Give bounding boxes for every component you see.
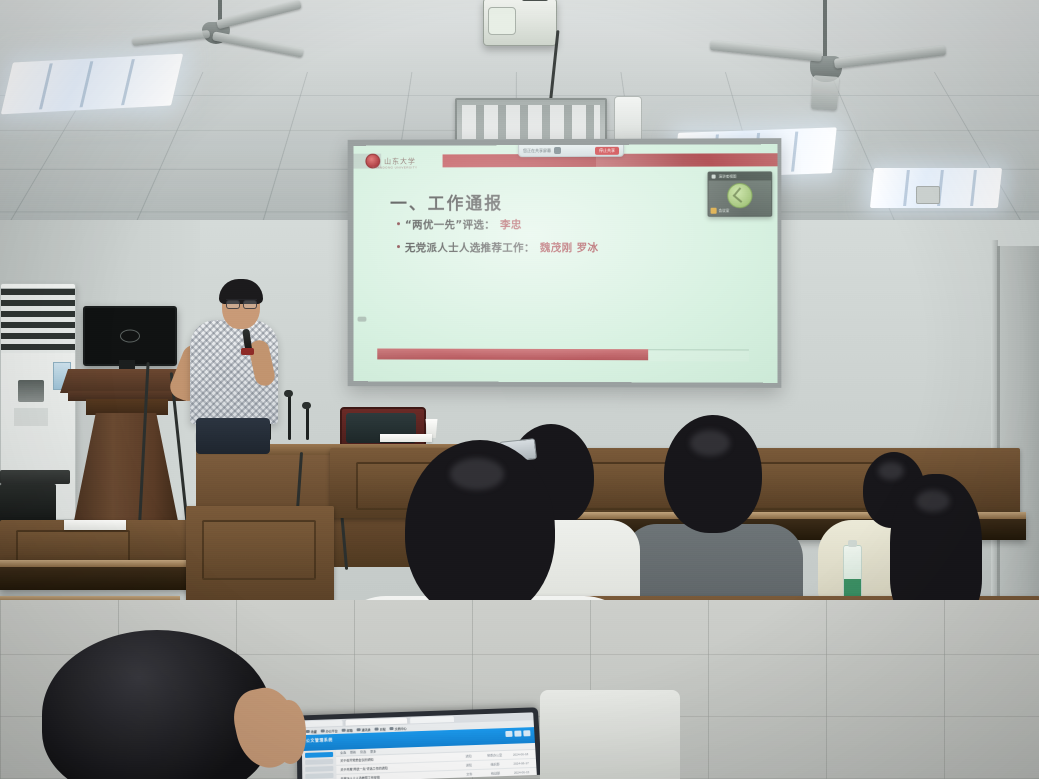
participant-name: 会议室 xyxy=(719,208,730,213)
bookmark-label: 办公平台 xyxy=(326,728,338,732)
screen-edge-marker xyxy=(358,317,367,322)
bullet-names: 李忠 xyxy=(500,217,522,232)
participant-name-row: 会议室 xyxy=(711,208,730,214)
ceiling-fan xyxy=(140,0,300,70)
table-microphone xyxy=(306,406,309,440)
layout-icon[interactable] xyxy=(712,175,716,179)
select-all-button[interactable]: 全选 xyxy=(340,751,346,755)
video-overlay-label: 演讲者视图 xyxy=(719,174,737,179)
podium-monitor xyxy=(83,306,177,366)
video-participant-overlay[interactable]: 演讲者视图 会议室 xyxy=(708,171,773,216)
participant-avatar xyxy=(727,183,752,208)
microphone-head-icon xyxy=(302,402,311,409)
laptop-screen[interactable]: 首页 公文管理系统 待办事项 收藏 办公平台 邮箱 通讯录 日程 文档中心 公文… xyxy=(302,712,537,779)
projected-slide: 山东大学 SHANDONG UNIVERSITY 一、工作通报 “两优一先”评选… xyxy=(354,144,778,383)
slide-title: 一、工作通报 xyxy=(390,189,503,214)
row-date: 2024-06-17 xyxy=(510,761,532,766)
ac-louvers xyxy=(1,288,75,353)
slide-logo-subtext: SHANDONG UNIVERSITY xyxy=(372,165,417,169)
bullet-text: “两优一先”评选： xyxy=(405,217,495,232)
stop-share-button[interactable]: 停止共享 xyxy=(595,146,619,154)
bullet-text: 无党派人士人选推荐工作： xyxy=(405,240,535,255)
slide-bullet-item: 无党派人士人选推荐工作： 魏茂刚 罗冰 xyxy=(397,240,598,255)
microphone-head-icon xyxy=(284,390,293,397)
ceiling-fan xyxy=(700,0,950,100)
attendee-body-blur xyxy=(540,690,680,779)
room-door[interactable] xyxy=(997,246,1039,618)
bookmark-item[interactable]: 通讯录 xyxy=(357,727,371,731)
presenter-legs xyxy=(196,418,270,454)
row-date: 2024-06-15 xyxy=(510,770,532,775)
row-sender: 统战部 xyxy=(484,771,506,776)
equipment-box xyxy=(0,484,56,524)
bookmark-icon xyxy=(390,727,394,731)
bookmark-icon xyxy=(342,728,346,732)
app-brand: 公文管理系统 xyxy=(306,737,333,744)
more-button[interactable]: 更多 xyxy=(370,749,376,753)
row-type: 通知 xyxy=(457,754,479,759)
bookmark-icon xyxy=(306,730,310,734)
water-bottle xyxy=(843,545,862,601)
bookmark-label: 邮箱 xyxy=(347,728,353,732)
bookmark-item[interactable]: 办公平台 xyxy=(321,728,338,733)
row-sender: 组织部 xyxy=(484,762,506,767)
sidebar-item-inbox[interactable] xyxy=(305,752,333,758)
documents xyxy=(380,434,432,442)
bookmark-label: 日程 xyxy=(380,727,386,731)
slide-footer-bar-rest xyxy=(648,349,749,361)
bookmark-item[interactable]: 收藏 xyxy=(306,729,317,733)
microphone-icon xyxy=(711,208,717,214)
sidebar-item-done[interactable] xyxy=(305,766,333,772)
row-type: 通知 xyxy=(458,763,480,768)
ac-control-panel[interactable] xyxy=(18,380,44,402)
bookmark-icon xyxy=(321,729,325,733)
bookmark-label: 通讯录 xyxy=(362,727,371,731)
table-microphone xyxy=(288,394,291,440)
projector-mount xyxy=(522,0,548,1)
laptop[interactable]: 首页 公文管理系统 待办事项 收藏 办公平台 邮箱 通讯录 日程 文档中心 公文… xyxy=(297,707,542,779)
microphone-grip xyxy=(241,348,254,355)
screen-share-toolbar[interactable]: 您正在共享屏幕 停止共享 xyxy=(518,144,624,157)
equipment-box-lid xyxy=(0,470,70,484)
meeting-room-photo: 山东大学 SHANDONG UNIVERSITY 一、工作通报 “两优一先”评选… xyxy=(0,0,1039,779)
bookmark-label: 收藏 xyxy=(311,729,317,733)
document-list[interactable]: 全选 刷新 筛选 更多 关于召开党委会议的通知 通知 党委办公室 2024-06… xyxy=(336,743,537,779)
slide-footer-bar xyxy=(377,348,749,360)
screen-share-icon[interactable] xyxy=(554,147,561,154)
bookmark-label: 文档中心 xyxy=(395,726,407,730)
slide-footer-bar-fill xyxy=(377,348,647,360)
window-controls[interactable] xyxy=(505,730,530,737)
refresh-button[interactable]: 刷新 xyxy=(350,750,356,754)
documents xyxy=(64,520,126,530)
row-sender: 党委办公室 xyxy=(483,753,505,758)
bookmark-item[interactable]: 邮箱 xyxy=(342,728,353,732)
wall-outlet xyxy=(916,186,940,204)
bookmark-item[interactable]: 日程 xyxy=(375,727,386,731)
filter-button[interactable]: 筛选 xyxy=(360,750,366,754)
row-type: 文件 xyxy=(458,772,480,777)
bookmark-icon xyxy=(375,727,379,731)
slide-bullet-list: “两优一先”评选： 李忠 无党派人士人选推荐工作： 魏茂刚 罗冰 xyxy=(397,217,598,263)
bullet-names: 魏茂刚 罗冰 xyxy=(540,240,599,255)
bullet-dot-icon xyxy=(397,245,400,248)
glasses-icon xyxy=(226,299,257,307)
sidebar-item-todo[interactable] xyxy=(305,759,333,765)
sidebar-item-drafts[interactable] xyxy=(305,773,333,779)
bullet-dot-icon xyxy=(397,222,400,225)
slide-bullet-item: “两优一先”评选： 李忠 xyxy=(397,217,598,232)
maximize-icon[interactable] xyxy=(514,731,521,737)
row-date: 2024-06-18 xyxy=(509,752,531,757)
ac-label xyxy=(14,408,48,426)
bookmark-icon xyxy=(357,728,361,732)
share-status-label: 您正在共享屏幕 xyxy=(523,148,551,154)
row-title: 无党派人士人选推荐工作安排 xyxy=(341,773,455,779)
bottle-label xyxy=(844,579,861,596)
video-overlay-topbar: 演讲者视图 xyxy=(709,172,773,180)
close-icon[interactable] xyxy=(523,730,530,736)
bookmark-item[interactable]: 文档中心 xyxy=(390,726,407,731)
podium-neck xyxy=(86,399,168,415)
minimize-icon[interactable] xyxy=(505,731,512,737)
projector-lens xyxy=(488,7,516,35)
vent-grille xyxy=(462,105,600,139)
ceiling-projector xyxy=(483,0,557,46)
app-sidebar[interactable] xyxy=(302,750,338,779)
